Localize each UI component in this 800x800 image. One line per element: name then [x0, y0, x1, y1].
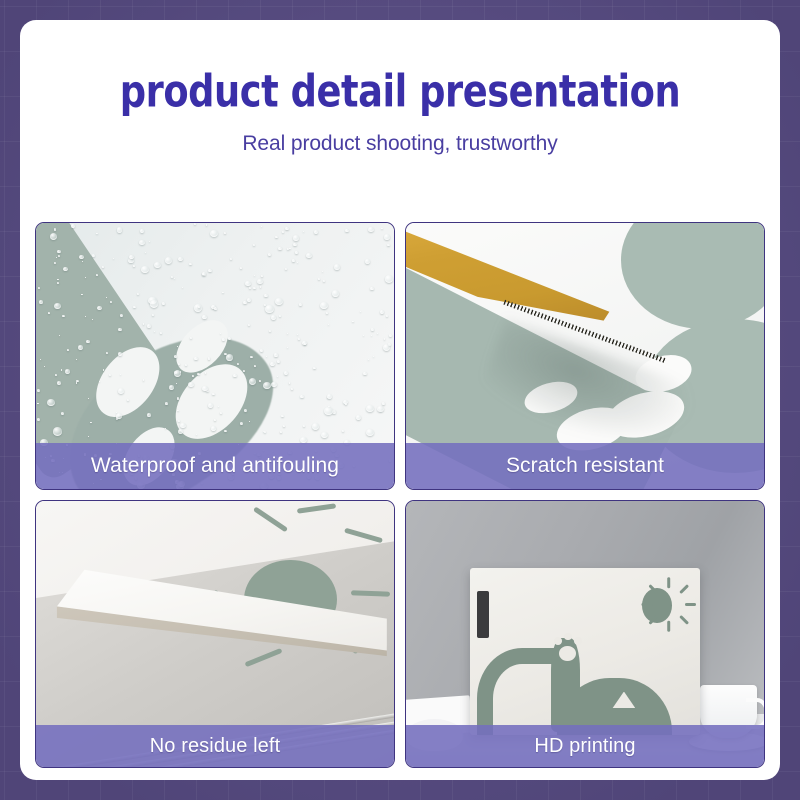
water-droplet: [377, 333, 378, 334]
water-droplet: [81, 294, 83, 296]
water-droplet: [245, 281, 251, 286]
water-droplet: [224, 232, 226, 234]
water-droplet: [253, 244, 255, 246]
sun-ray: [667, 576, 670, 587]
water-droplet: [297, 262, 298, 263]
water-droplet: [265, 305, 274, 313]
water-droplet: [53, 427, 62, 435]
water-droplet: [113, 258, 114, 259]
page-subtitle: Real product shooting, trustworthy: [20, 132, 780, 156]
water-droplet: [271, 382, 277, 388]
water-droplet: [244, 409, 247, 412]
water-droplet: [169, 385, 175, 390]
water-droplet: [295, 251, 298, 253]
water-droplet: [253, 287, 255, 289]
water-droplet: [260, 286, 262, 287]
water-droplet: [366, 429, 374, 436]
water-droplet: [147, 413, 151, 417]
water-droplet: [44, 366, 45, 367]
water-droplet: [145, 252, 146, 253]
feature-card-grid: Waterproof and antifouling Scratch resis…: [35, 222, 765, 768]
water-droplet: [266, 356, 267, 357]
water-droplet: [298, 338, 300, 340]
water-droplet: [39, 300, 43, 304]
water-droplet: [174, 278, 175, 279]
water-droplet: [57, 381, 61, 385]
water-droplet: [171, 276, 173, 278]
water-droplet: [48, 312, 50, 314]
sun-ray: [679, 584, 689, 594]
water-droplet: [321, 432, 328, 438]
water-droplet: [154, 331, 155, 332]
water-droplet: [88, 398, 89, 399]
content-panel: product detail presentation Real product…: [20, 20, 780, 780]
water-droplet: [99, 381, 100, 382]
water-droplet: [289, 382, 291, 383]
water-droplet: [92, 319, 93, 320]
water-droplet: [178, 429, 183, 434]
water-droplet: [208, 357, 211, 359]
water-droplet: [282, 231, 284, 233]
water-droplet: [326, 312, 328, 314]
water-droplet: [297, 334, 298, 335]
water-droplet: [38, 287, 40, 289]
card-caption: No residue left: [36, 725, 394, 767]
water-droplet: [303, 231, 304, 232]
water-droplet: [299, 303, 302, 305]
water-droplet: [328, 324, 329, 325]
water-droplet: [150, 300, 158, 308]
water-droplet: [249, 287, 251, 289]
water-droplet: [214, 419, 216, 420]
water-droplet: [174, 355, 178, 358]
water-droplet: [106, 297, 107, 298]
water-droplet: [300, 395, 304, 398]
water-droplet: [190, 337, 192, 339]
water-droplet: [118, 388, 125, 394]
water-droplet: [243, 370, 245, 372]
page-title: product detail presentation: [50, 70, 749, 115]
water-droplet: [383, 344, 390, 351]
feature-card-printing[interactable]: HD printing: [405, 500, 765, 768]
water-droplet: [277, 360, 280, 363]
water-droplet: [147, 324, 151, 328]
water-droplet: [381, 228, 382, 229]
water-droplet: [366, 405, 374, 412]
water-droplet: [345, 404, 347, 406]
water-droplet: [257, 279, 263, 284]
water-droplet: [86, 340, 90, 344]
water-droplet: [162, 302, 165, 305]
water-droplet: [279, 315, 281, 317]
water-droplet: [275, 236, 278, 239]
water-droplet: [71, 224, 75, 228]
water-droplet: [79, 255, 84, 260]
water-droplet: [110, 301, 112, 303]
water-droplet: [264, 294, 268, 297]
water-droplet: [322, 271, 323, 272]
water-droplet: [210, 230, 218, 237]
water-droplet: [384, 338, 385, 339]
water-droplet: [127, 399, 129, 401]
water-droplet: [37, 418, 40, 421]
water-droplet: [56, 257, 57, 258]
water-droplet: [197, 373, 200, 376]
water-droplet: [58, 255, 60, 257]
water-droplet: [47, 399, 55, 406]
water-droplet: [254, 275, 255, 276]
water-droplet: [57, 279, 59, 281]
water-droplet: [196, 434, 197, 435]
water-droplet: [370, 287, 374, 290]
water-droplet: [220, 412, 223, 415]
water-droplet: [37, 389, 40, 392]
water-droplet: [324, 407, 333, 415]
water-droplet: [78, 345, 83, 350]
water-droplet: [189, 263, 191, 265]
water-droplet: [174, 370, 182, 377]
water-droplet: [149, 241, 150, 242]
water-droplet: [118, 328, 122, 331]
water-droplet: [141, 266, 148, 273]
water-droplet: [312, 423, 319, 430]
water-droplet: [380, 310, 384, 314]
water-droplet: [206, 224, 207, 225]
water-droplet: [263, 382, 271, 390]
water-droplet: [222, 338, 225, 340]
water-droplet: [118, 352, 122, 356]
water-droplet: [386, 315, 388, 317]
brand-logo: [477, 591, 488, 638]
water-droplet: [300, 437, 307, 443]
water-droplet: [188, 382, 193, 387]
water-droplet: [50, 233, 57, 240]
water-droplet: [254, 365, 257, 367]
water-droplet: [342, 430, 344, 432]
water-droplet: [97, 306, 102, 310]
water-droplet: [284, 371, 288, 375]
water-droplet: [177, 346, 179, 348]
water-droplet: [194, 223, 196, 225]
water-droplet: [387, 244, 390, 246]
water-droplet: [202, 315, 206, 319]
water-droplet: [117, 227, 123, 232]
water-droplet: [261, 275, 264, 277]
water-droplet: [85, 316, 86, 317]
water-droplet: [85, 277, 86, 278]
water-droplet: [178, 420, 180, 422]
water-droplet: [269, 330, 271, 332]
water-droplet: [63, 267, 68, 272]
water-droplet: [177, 410, 179, 412]
water-droplet: [65, 369, 71, 374]
water-droplet: [205, 372, 207, 373]
water-droplet: [96, 274, 99, 277]
water-droplet: [304, 343, 305, 344]
cat-tail: [477, 648, 555, 735]
water-droplet: [55, 374, 57, 376]
water-droplet: [270, 362, 274, 366]
water-droplet: [385, 275, 393, 283]
water-droplet: [120, 314, 123, 317]
water-droplet: [224, 430, 226, 432]
water-droplet: [220, 333, 221, 334]
water-droplet: [198, 306, 200, 308]
sun-ray: [297, 504, 337, 514]
water-droplet: [233, 374, 236, 377]
sun-ray: [667, 620, 670, 631]
laptop-lid: [470, 568, 699, 736]
water-droplet: [133, 306, 135, 308]
water-droplet: [76, 382, 78, 383]
water-droplet: [109, 374, 111, 376]
water-droplet: [365, 259, 370, 264]
water-droplet: [37, 403, 38, 404]
water-droplet: [249, 378, 256, 385]
water-droplet: [165, 257, 173, 264]
water-droplet: [182, 287, 183, 288]
water-droplet: [154, 262, 161, 268]
water-droplet: [268, 253, 271, 256]
water-droplet: [54, 228, 56, 230]
water-droplet: [218, 406, 219, 407]
water-droplet: [176, 383, 177, 384]
water-droplet: [178, 257, 183, 261]
water-droplet: [360, 311, 361, 312]
water-droplet: [116, 413, 123, 419]
water-droplet: [208, 403, 213, 408]
water-droplet: [228, 337, 231, 340]
paw-toe: [574, 637, 582, 645]
water-droplet: [59, 335, 60, 336]
water-droplet: [40, 359, 41, 360]
card-caption: HD printing: [406, 725, 764, 767]
water-droplet: [208, 269, 211, 272]
water-droplet: [250, 356, 253, 359]
feature-card-scratch[interactable]: Scratch resistant: [405, 222, 765, 490]
water-droplet: [54, 303, 61, 309]
water-droplet: [133, 265, 135, 267]
water-droplet: [226, 354, 233, 360]
water-droplet: [57, 250, 61, 253]
water-droplet: [185, 364, 187, 366]
water-droplet: [177, 397, 179, 399]
water-droplet: [292, 259, 295, 262]
sun-ray: [685, 603, 696, 606]
card-caption: Waterproof and antifouling: [36, 443, 394, 489]
water-droplet: [389, 334, 392, 337]
water-droplet: [61, 412, 64, 415]
water-droplet: [259, 380, 261, 382]
water-droplet: [61, 369, 62, 370]
water-droplet: [103, 369, 104, 370]
water-droplet: [212, 393, 215, 395]
water-droplet: [120, 374, 121, 375]
water-droplet: [384, 234, 390, 239]
water-droplet: [323, 280, 325, 282]
water-droplet: [57, 282, 59, 284]
water-droplet: [137, 293, 139, 295]
water-droplet: [240, 422, 243, 425]
water-droplet: [76, 359, 77, 360]
water-droplet: [363, 335, 364, 336]
water-droplet: [281, 415, 284, 418]
water-droplet: [320, 302, 327, 309]
water-droplet: [356, 415, 361, 420]
water-droplet: [274, 353, 277, 356]
water-droplet: [96, 233, 98, 235]
water-droplet: [139, 240, 145, 245]
water-droplet: [178, 363, 180, 365]
paw-toe: [554, 637, 562, 645]
water-droplet: [334, 264, 340, 269]
water-droplet: [352, 321, 353, 322]
sun-ray: [641, 603, 652, 606]
decal-pad-upper: [621, 223, 764, 329]
water-droplet: [192, 375, 194, 377]
water-droplet: [368, 227, 374, 233]
water-droplet: [264, 431, 266, 433]
water-droplet: [243, 301, 247, 304]
water-droplet: [373, 356, 374, 357]
water-droplet: [240, 267, 242, 269]
water-droplet: [230, 258, 232, 260]
water-droplet: [371, 335, 372, 336]
water-droplet: [211, 426, 215, 430]
feature-card-waterproof[interactable]: Waterproof and antifouling: [35, 222, 395, 490]
water-droplet: [368, 359, 369, 360]
water-droplet: [106, 352, 108, 354]
water-droplet: [160, 332, 163, 334]
water-droplet: [287, 333, 288, 334]
water-droplet: [260, 349, 263, 352]
water-droplet: [249, 421, 250, 422]
water-droplet: [222, 292, 224, 293]
water-droplet: [332, 290, 339, 296]
water-droplet: [377, 406, 384, 412]
water-droplet: [82, 261, 84, 262]
sun-ray: [679, 615, 689, 625]
feature-card-residue[interactable]: No residue left: [35, 500, 395, 768]
water-droplet: [194, 357, 197, 360]
water-droplet: [327, 394, 332, 399]
water-droplet: [143, 323, 144, 324]
sun-ray: [253, 506, 288, 532]
water-droplet: [152, 314, 154, 316]
water-droplet: [54, 262, 56, 264]
water-droplet: [143, 379, 144, 380]
water-droplet: [293, 235, 299, 240]
water-droplet: [271, 315, 276, 320]
header: product detail presentation Real product…: [20, 20, 780, 156]
water-droplet: [363, 372, 367, 375]
water-droplet: [165, 428, 166, 429]
sun-ray: [344, 528, 383, 544]
water-droplet: [277, 376, 278, 377]
water-droplet: [293, 243, 296, 246]
water-droplet: [306, 253, 311, 258]
water-droplet: [318, 278, 320, 280]
water-droplet: [102, 266, 104, 268]
water-droplet: [88, 436, 89, 437]
water-droplet: [165, 402, 168, 405]
water-droplet: [214, 307, 217, 310]
water-droplet: [314, 230, 318, 234]
water-droplet: [90, 422, 92, 424]
water-droplet: [280, 431, 282, 433]
water-droplet: [287, 347, 288, 348]
water-droplet: [291, 388, 293, 389]
water-droplet: [261, 226, 262, 227]
water-droplet: [285, 268, 287, 270]
water-droplet: [275, 298, 283, 305]
water-droplet: [382, 402, 384, 404]
water-droplet: [332, 410, 336, 413]
water-droplet: [140, 229, 145, 233]
water-droplet: [67, 349, 69, 351]
water-droplet: [285, 227, 288, 230]
water-droplet: [180, 423, 185, 428]
card-caption: Scratch resistant: [406, 443, 764, 489]
water-droplet: [278, 247, 282, 250]
water-droplet: [283, 425, 285, 427]
water-droplet: [371, 328, 374, 331]
water-droplet: [92, 254, 95, 257]
water-droplet: [62, 315, 65, 317]
water-droplet: [313, 367, 315, 369]
water-droplet: [303, 425, 305, 427]
water-droplet: [345, 229, 349, 233]
water-droplet: [248, 324, 250, 326]
water-droplet: [247, 298, 251, 302]
water-droplet: [289, 248, 291, 250]
water-droplet: [237, 363, 239, 365]
